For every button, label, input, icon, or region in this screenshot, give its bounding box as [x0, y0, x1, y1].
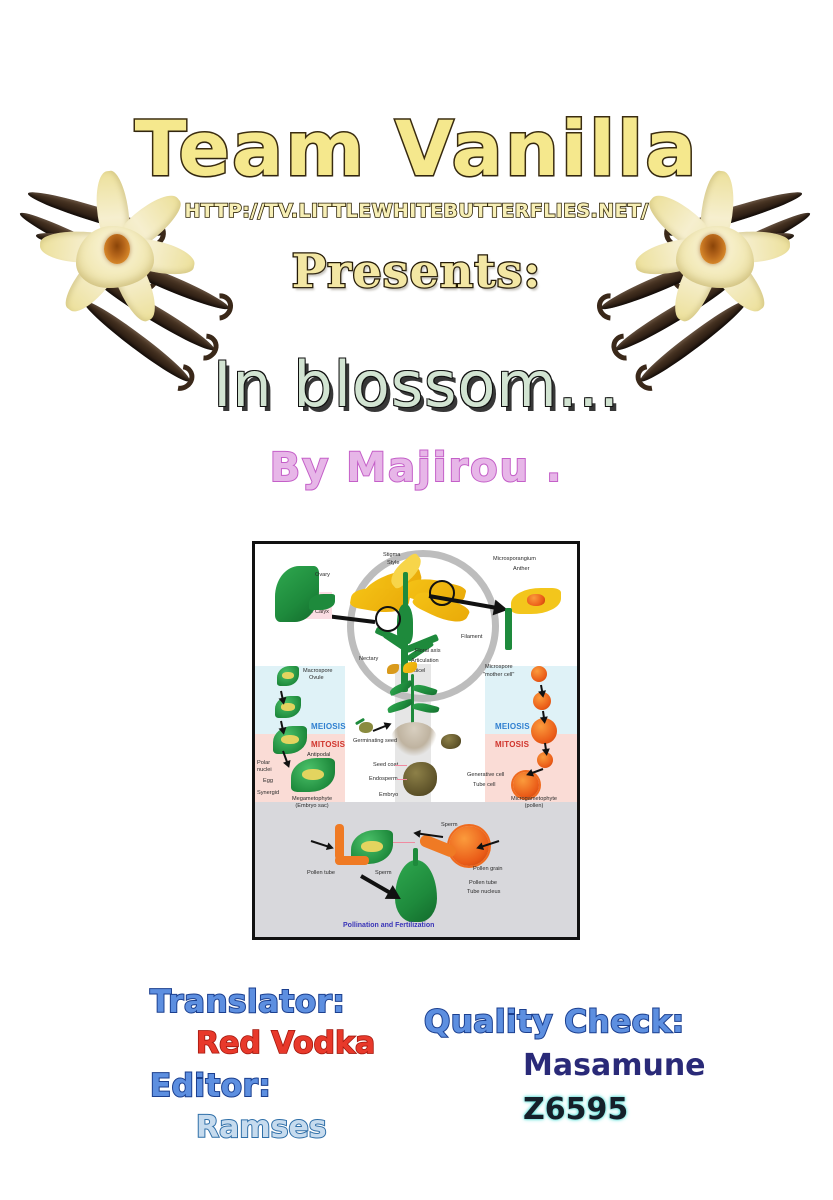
label-tube-cell: Tube cell — [473, 782, 496, 789]
label-megametophyte-1: Megametophyte — [279, 796, 345, 803]
leader-line — [395, 765, 407, 766]
label-pollen-tube-left: Pollen tube — [307, 870, 335, 877]
work-title: In blossom... — [0, 348, 833, 421]
editor-label: Editor: — [150, 1068, 271, 1104]
pollen-tube-left-arm — [335, 856, 369, 865]
diagram-caption: Pollination and Fertilization — [343, 922, 434, 931]
label-meiosis-left: MEIOSIS — [311, 722, 346, 732]
label-filament: Filament — [461, 634, 482, 641]
label-floral-axis: Floral axis — [415, 648, 441, 655]
label-nectary: Nectary — [359, 656, 378, 663]
label-germinating-seed: Germinating seed — [353, 738, 397, 745]
label-tube-nucleus: Tube nucleus — [467, 889, 500, 896]
pollen-sacs — [527, 594, 545, 606]
label-microgametophyte-2: (pollen) — [491, 803, 577, 810]
label-meiosis-right: MEIOSIS — [495, 722, 530, 732]
quality-check-id: Z6595 — [523, 1092, 628, 1127]
pollen-tube-left — [335, 824, 344, 860]
label-antipodal: Antipodal — [307, 752, 330, 759]
label-synergid: Synergid — [257, 790, 279, 797]
filament-stem — [505, 608, 512, 650]
translator-label: Translator: — [150, 984, 345, 1020]
leader-line — [393, 842, 415, 843]
label-endosperm: Endosperm — [369, 776, 398, 783]
group-url: HTTP://TV.LITTLEWHITEBUTTERFLIES.NET/ — [0, 200, 833, 222]
label-pollen-grain: Pollen grain — [473, 866, 503, 873]
label-megametophyte-2: (Embryo sac) — [279, 803, 345, 810]
label-egg: Egg — [263, 778, 273, 785]
life-cycle-ring — [347, 550, 499, 702]
label-microspore-1: Microspore — [485, 664, 513, 671]
presents-label: Presents: — [0, 244, 833, 298]
microspore-mother-cell — [531, 666, 547, 682]
label-microgametophyte-1: Microgametophyte — [491, 796, 577, 803]
group-title: Team Vanilla — [0, 104, 833, 193]
translator-name: Red Vodka — [196, 1026, 375, 1061]
editor-name: Ramses — [196, 1110, 327, 1145]
label-sperm-left: Sperm — [375, 870, 391, 877]
leader-line — [397, 779, 407, 780]
seed-cross-section — [403, 762, 437, 796]
label-mitosis-left: MITOSIS — [311, 740, 345, 750]
label-style: Style — [387, 560, 399, 567]
quality-check-name: Masamune — [523, 1048, 706, 1083]
label-ovule: Ovule — [309, 675, 324, 682]
label-stigma: Stigma — [383, 552, 400, 559]
quality-check-label: Quality Check: — [424, 1004, 685, 1040]
label-macrospore: Macrospore — [303, 668, 333, 675]
label-pollen-tube-right: Pollen tube — [469, 880, 497, 887]
plant-roots — [391, 722, 437, 756]
plant-life-cycle-diagram: Stigma Style Perianth Petal:Corolla Sepa… — [252, 541, 580, 940]
label-polar-nuclei-2: nuclei — [257, 767, 272, 774]
label-ovary: Ovary — [315, 572, 330, 579]
label-generative-cell: Generative cell — [467, 772, 504, 779]
label-microspore-2: "mother cell" — [483, 672, 514, 679]
label-mitosis-right: MITOSIS — [495, 740, 529, 750]
work-author: By Majirou . — [0, 445, 833, 491]
credits-title-page: Team Vanilla HTTP://TV.LITTLEWHITEBUTTER… — [0, 0, 833, 1200]
ovule-stalk — [413, 848, 418, 866]
label-embryo: Embryo — [379, 792, 398, 799]
label-sperm-right: Sperm — [441, 822, 457, 829]
process-arrow — [373, 724, 389, 732]
label-microsporangium: Microsporangium — [493, 556, 536, 563]
label-anther: Anther — [513, 566, 529, 573]
label-polar-nuclei-1: Polar — [257, 760, 270, 767]
ovule-callout-circle — [375, 606, 401, 632]
germinating-seed — [359, 722, 373, 733]
mature-seed — [441, 734, 461, 749]
